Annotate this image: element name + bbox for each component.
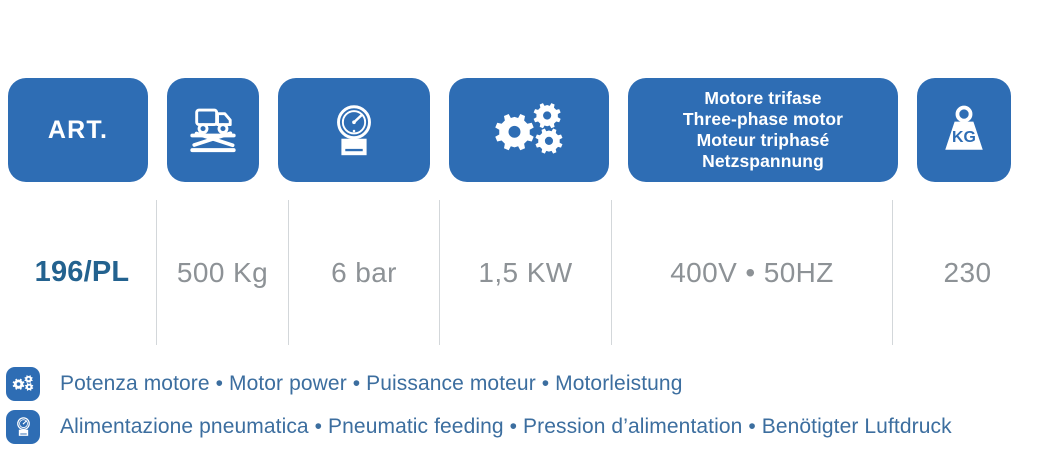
tile-article: ART.: [8, 78, 148, 182]
motor-line-de: Netzspannung: [683, 151, 843, 172]
value-cell-air-pressure: 6 bar: [288, 200, 439, 345]
spec-values-row: 196/PL 500 Kg 6 bar 1,5 KW 400V • 50HZ 2…: [8, 200, 1042, 345]
value-cell-capacity: 500 Kg: [156, 200, 288, 345]
value-weight: 230: [944, 257, 992, 289]
legend-label-pneumatic-feed: Alimentazione pneumatica • Pneumatic fee…: [60, 415, 952, 439]
gears-icon: [490, 99, 568, 161]
legend-label-motor-power: Potenza motore • Motor power • Puissance…: [60, 372, 682, 396]
legend-row-motor-power: Potenza motore • Motor power • Puissance…: [6, 362, 1046, 405]
scissor-lift-truck-icon: [184, 101, 242, 159]
value-cell-voltage: 400V • 50HZ: [611, 200, 892, 345]
tile-article-label: ART.: [48, 116, 108, 145]
pressure-gauge-icon: [323, 99, 385, 161]
value-cell-article: 196/PL: [8, 200, 156, 345]
weight-kg-icon: KG: [934, 100, 994, 160]
legend-gears-icon: [6, 367, 40, 401]
value-air-pressure: 6 bar: [331, 257, 397, 289]
tile-motor-power: [449, 78, 609, 182]
tile-motor-text-block: Motore trifase Three-phase motor Moteur …: [683, 88, 843, 172]
legend-pressure-gauge-icon: [6, 410, 40, 444]
motor-line-it: Motore trifase: [683, 88, 843, 109]
value-motor-power: 1,5 KW: [478, 257, 572, 289]
svg-text:KG: KG: [952, 129, 976, 146]
tile-weight: KG: [917, 78, 1011, 182]
spec-sheet: ART.: [0, 0, 1050, 460]
tile-air-pressure: [278, 78, 430, 182]
tile-lift-capacity: [167, 78, 259, 182]
value-cell-motor-power: 1,5 KW: [439, 200, 611, 345]
motor-line-en: Three-phase motor: [683, 109, 843, 130]
tile-three-phase-motor: Motore trifase Three-phase motor Moteur …: [628, 78, 898, 182]
spec-icon-tile-row: ART.: [8, 78, 1042, 182]
value-article-code: 196/PL: [35, 256, 130, 289]
value-capacity: 500 Kg: [177, 257, 268, 289]
value-voltage: 400V • 50HZ: [670, 257, 834, 289]
legend: Potenza motore • Motor power • Puissance…: [6, 362, 1046, 448]
legend-row-pneumatic-feed: Alimentazione pneumatica • Pneumatic fee…: [6, 405, 1046, 448]
value-cell-weight: 230: [892, 200, 1042, 345]
motor-line-fr: Moteur triphasé: [683, 130, 843, 151]
